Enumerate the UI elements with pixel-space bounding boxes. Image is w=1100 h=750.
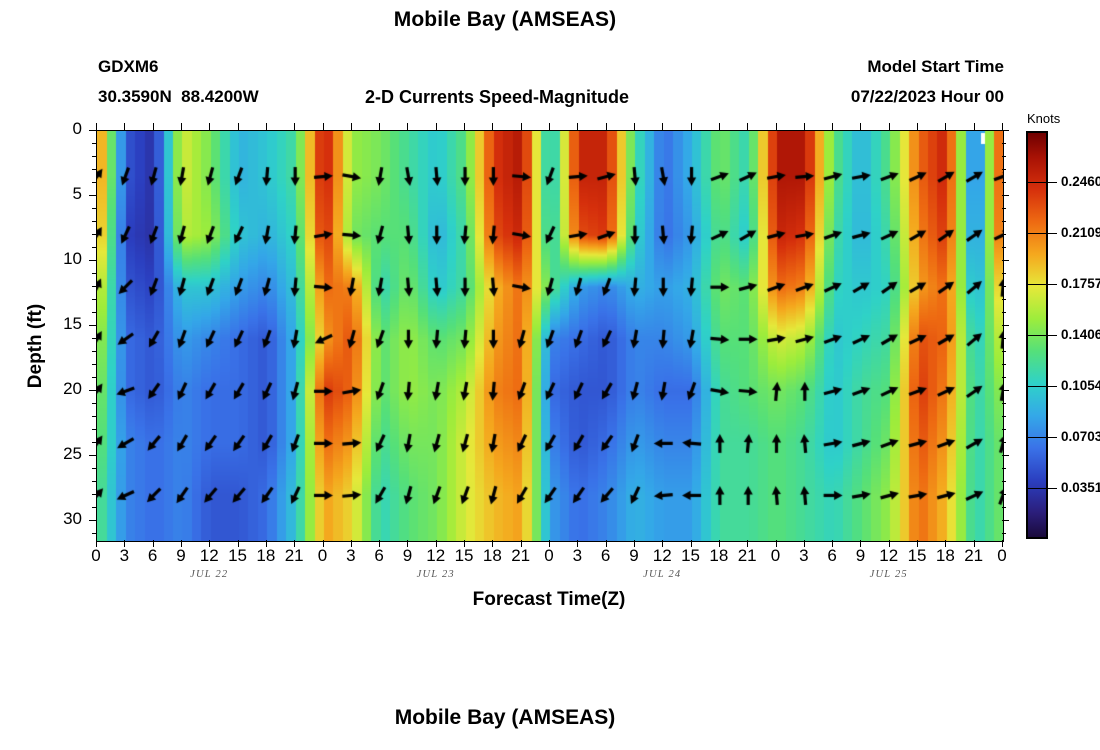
y-axis-minor-tick-right (1002, 247, 1006, 248)
y-axis-tick-label: 0 (40, 119, 82, 139)
y-axis-minor-tick (92, 481, 96, 482)
colorbar-tick (1048, 284, 1057, 285)
x-axis-tick-label: 9 (845, 546, 875, 566)
x-axis-tick-label: 6 (817, 546, 847, 566)
y-axis-minor-tick-right (1002, 442, 1006, 443)
y-axis-minor-tick (92, 312, 96, 313)
y-axis-minor-tick-right (1002, 494, 1006, 495)
y-axis-minor-tick (92, 338, 96, 339)
colorbar-tick-label: 0.14062 (1061, 327, 1100, 342)
y-axis-minor-tick-right (1002, 364, 1006, 365)
y-axis-minor-tick (92, 416, 96, 417)
x-axis-tick-label: 21 (506, 546, 536, 566)
y-axis-minor-tick-right (1002, 299, 1006, 300)
y-axis-minor-tick (92, 299, 96, 300)
y-axis-minor-tick (92, 403, 96, 404)
y-axis-minor-tick (92, 208, 96, 209)
colorbar-separator (1028, 386, 1046, 387)
x-axis-tick-label: 6 (591, 546, 621, 566)
x-axis-tick-label: 3 (562, 546, 592, 566)
x-axis-tick-top (492, 123, 493, 130)
x-axis-tick-top (747, 123, 748, 130)
y-axis-minor-tick-right (1002, 481, 1006, 482)
current-direction-vector-arrows (97, 131, 1003, 541)
y-axis-minor-tick (92, 442, 96, 443)
x-axis-tick-label: 18 (477, 546, 507, 566)
x-axis-tick-top (379, 123, 380, 130)
x-axis-tick-top (294, 123, 295, 130)
colorbar-tick (1048, 488, 1057, 489)
y-axis-tick-label: 5 (40, 184, 82, 204)
colorbar-tick (1048, 386, 1057, 387)
x-axis-title: Forecast Time(Z) (96, 589, 1002, 611)
y-axis-minor-tick (92, 273, 96, 274)
y-axis-tick-right (1002, 195, 1009, 196)
model-start-time-value: 07/22/2023 Hour 00 (851, 87, 1004, 107)
x-axis-tick-label: 0 (308, 546, 338, 566)
y-axis-minor-tick-right (1002, 338, 1006, 339)
x-axis-tick-top (181, 123, 182, 130)
colorbar-tick-label: 0.21093 (1061, 225, 1100, 240)
x-axis-tick-label: 3 (789, 546, 819, 566)
colorbar-separator (1028, 182, 1046, 183)
colorbar-tick-label: 0.10546 (1061, 378, 1100, 393)
x-axis-tick-top (96, 123, 97, 130)
station-id: GDXM6 (98, 57, 158, 77)
plot-subtitle: 2-D Currents Speed-Magnitude (365, 87, 629, 108)
x-axis-tick-top (691, 123, 692, 130)
y-axis-tick-right (1002, 520, 1009, 521)
x-axis-tick-label: 21 (732, 546, 762, 566)
x-axis-tick-top (323, 123, 324, 130)
x-axis-tick-top (124, 123, 125, 130)
y-axis-tick-label: 10 (40, 249, 82, 269)
x-axis-tick-top (804, 123, 805, 130)
y-axis-minor-tick-right (1002, 468, 1006, 469)
y-axis-minor-tick (92, 377, 96, 378)
x-axis-tick-top (407, 123, 408, 130)
y-axis-tick (89, 520, 96, 521)
x-axis-tick-top (577, 123, 578, 130)
colorbar-tick-label: 0.07031 (1061, 429, 1100, 444)
y-axis-minor-tick-right (1002, 429, 1006, 430)
x-axis-tick-label: 6 (138, 546, 168, 566)
colorbar-tick (1048, 182, 1057, 183)
x-axis-day-label: JUL 22 (164, 569, 254, 580)
x-axis-tick-top (1002, 123, 1003, 130)
x-axis-tick-label: 21 (959, 546, 989, 566)
x-axis-tick-top (860, 123, 861, 130)
y-axis-minor-tick-right (1002, 403, 1006, 404)
x-axis-tick-label: 9 (166, 546, 196, 566)
y-axis-minor-tick (92, 507, 96, 508)
x-axis-tick-top (549, 123, 550, 130)
x-axis-tick-label: 3 (336, 546, 366, 566)
y-axis-minor-tick (92, 429, 96, 430)
y-axis-tick (89, 390, 96, 391)
y-axis-minor-tick-right (1002, 416, 1006, 417)
x-axis-day-label: JUL 25 (844, 569, 934, 580)
station-coordinates: 30.3590N 88.4200W (98, 87, 259, 107)
x-axis-tick-top (351, 123, 352, 130)
x-axis-tick-top (719, 123, 720, 130)
y-axis-minor-tick-right (1002, 221, 1006, 222)
colorbar-tick-label: 0.03515 (1061, 480, 1100, 495)
x-axis-tick-top (662, 123, 663, 130)
y-axis-minor-tick (92, 221, 96, 222)
bottom-page-title: Mobile Bay (AMSEAS) (0, 706, 1010, 730)
x-axis-tick-label: 12 (194, 546, 224, 566)
y-axis-tick (89, 260, 96, 261)
y-axis-minor-tick (92, 286, 96, 287)
x-axis-tick-top (776, 123, 777, 130)
y-axis-tick (89, 195, 96, 196)
x-axis-tick-top (266, 123, 267, 130)
x-axis-tick-label: 18 (251, 546, 281, 566)
x-axis-tick-label: 0 (81, 546, 111, 566)
x-axis-tick-top (209, 123, 210, 130)
y-axis-minor-tick (92, 364, 96, 365)
y-axis-minor-tick (92, 494, 96, 495)
x-axis-tick-top (436, 123, 437, 130)
plot-area (96, 130, 1004, 542)
y-axis-tick-right (1002, 390, 1009, 391)
x-axis-tick-label: 0 (534, 546, 564, 566)
y-axis-minor-tick-right (1002, 312, 1006, 313)
y-axis-minor-tick (92, 156, 96, 157)
y-axis-minor-tick-right (1002, 533, 1006, 534)
y-axis-tick-right (1002, 130, 1009, 131)
y-axis-tick (89, 455, 96, 456)
x-axis-tick-label: 0 (761, 546, 791, 566)
x-axis-tick-top (238, 123, 239, 130)
x-axis-tick-top (153, 123, 154, 130)
y-axis-minor-tick-right (1002, 182, 1006, 183)
page-title: Mobile Bay (AMSEAS) (0, 8, 1010, 32)
y-axis-tick-right (1002, 260, 1009, 261)
y-axis-minor-tick (92, 247, 96, 248)
y-axis-title: Depth (ft) (25, 286, 47, 406)
y-axis-minor-tick (92, 533, 96, 534)
y-axis-minor-tick-right (1002, 377, 1006, 378)
model-start-time-label: Model Start Time (867, 57, 1004, 77)
x-axis-tick-label: 9 (619, 546, 649, 566)
x-axis-tick-label: 9 (392, 546, 422, 566)
colorbar-separator (1028, 284, 1046, 285)
y-axis-minor-tick-right (1002, 507, 1006, 508)
y-axis-minor-tick-right (1002, 234, 1006, 235)
x-axis-tick-label: 15 (902, 546, 932, 566)
x-axis-tick-top (974, 123, 975, 130)
x-axis-day-label: JUL 24 (617, 569, 707, 580)
y-axis-minor-tick-right (1002, 286, 1006, 287)
y-axis-minor-tick (92, 182, 96, 183)
y-axis-tick-label: 25 (40, 444, 82, 464)
x-axis-tick-label: 15 (676, 546, 706, 566)
x-axis-tick-top (889, 123, 890, 130)
y-axis-minor-tick (92, 169, 96, 170)
y-axis-minor-tick-right (1002, 156, 1006, 157)
y-axis-minor-tick (92, 143, 96, 144)
x-axis-tick-label: 3 (109, 546, 139, 566)
colorbar-separator (1028, 335, 1046, 336)
y-axis-minor-tick (92, 234, 96, 235)
x-axis-tick-label: 18 (930, 546, 960, 566)
x-axis-tick-label: 21 (279, 546, 309, 566)
y-axis-minor-tick-right (1002, 273, 1006, 274)
x-axis-tick-label: 15 (449, 546, 479, 566)
y-axis-minor-tick-right (1002, 143, 1006, 144)
x-axis-tick-label: 18 (704, 546, 734, 566)
x-axis-tick-label: 15 (223, 546, 253, 566)
y-axis-tick-right (1002, 325, 1009, 326)
y-axis-tick (89, 325, 96, 326)
y-axis-minor-tick (92, 468, 96, 469)
x-axis-tick-top (464, 123, 465, 130)
x-axis-tick-label: 0 (987, 546, 1017, 566)
x-axis-tick-label: 12 (421, 546, 451, 566)
y-axis-minor-tick-right (1002, 208, 1006, 209)
colorbar-tick (1048, 335, 1057, 336)
y-axis-minor-tick-right (1002, 169, 1006, 170)
x-axis-tick-label: 6 (364, 546, 394, 566)
colorbar-tick (1048, 437, 1057, 438)
x-axis-tick-top (917, 123, 918, 130)
y-axis-minor-tick (92, 351, 96, 352)
y-axis-tick-label: 30 (40, 509, 82, 529)
x-axis-tick-top (521, 123, 522, 130)
x-axis-tick-top (634, 123, 635, 130)
colorbar-tick (1048, 233, 1057, 234)
x-axis-tick-top (832, 123, 833, 130)
colorbar-separator (1028, 233, 1046, 234)
y-axis-tick-right (1002, 455, 1009, 456)
colorbar-separator (1028, 488, 1046, 489)
colorbar-tick-label: 0.17578 (1061, 276, 1100, 291)
colorbar-units-label: Knots (1027, 111, 1060, 126)
x-axis-tick-label: 12 (874, 546, 904, 566)
x-axis-tick-top (606, 123, 607, 130)
x-axis-day-label: JUL 23 (391, 569, 481, 580)
x-axis-tick-label: 12 (647, 546, 677, 566)
y-axis-minor-tick-right (1002, 351, 1006, 352)
colorbar-tick-label: 0.24609 (1061, 174, 1100, 189)
y-axis-tick (89, 130, 96, 131)
colorbar-separator (1028, 437, 1046, 438)
x-axis-tick-top (945, 123, 946, 130)
